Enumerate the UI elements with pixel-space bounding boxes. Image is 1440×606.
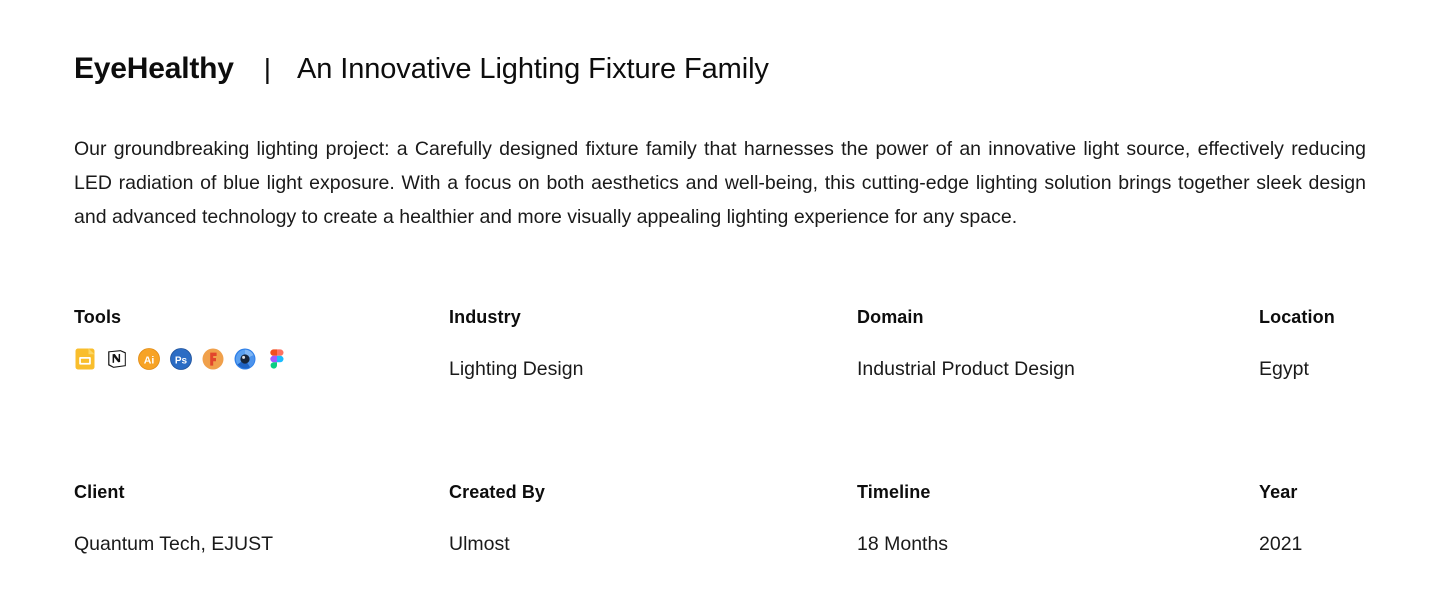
meta-row-first: Tools — [74, 306, 1374, 381]
meta-value-location: Egypt — [1259, 357, 1374, 381]
notion-icon[interactable] — [106, 348, 128, 370]
meta-value-timeline: 18 Months — [857, 532, 1259, 556]
brand-name: EyeHealthy — [74, 52, 234, 86]
keyshot-icon[interactable] — [234, 348, 256, 370]
meta-label-year: Year — [1259, 481, 1374, 503]
meta-label-tools: Tools — [74, 306, 449, 328]
page-title: EyeHealthy | An Innovative Lighting Fixt… — [74, 52, 769, 86]
meta-row-second: Client Quantum Tech, EJUST Created By Ul… — [74, 481, 1374, 556]
project-info-page: EyeHealthy | An Innovative Lighting Fixt… — [0, 0, 1440, 606]
meta-value-industry: Lighting Design — [449, 357, 857, 381]
svg-text:Ai: Ai — [144, 354, 155, 366]
svg-text:Ps: Ps — [175, 355, 188, 366]
meta-cell-timeline: Timeline 18 Months — [857, 481, 1259, 556]
meta-label-location: Location — [1259, 306, 1374, 328]
meta-cell-created-by: Created By Ulmost — [449, 481, 857, 556]
project-subtitle: An Innovative Lighting Fixture Family — [297, 53, 769, 86]
meta-label-timeline: Timeline — [857, 481, 1259, 503]
meta-value-client: Quantum Tech, EJUST — [74, 532, 449, 556]
adobe-photoshop-icon[interactable]: Ps — [170, 348, 192, 370]
meta-cell-domain: Domain Industrial Product Design — [857, 306, 1259, 381]
meta-cell-year: Year 2021 — [1259, 481, 1374, 556]
meta-cell-tools: Tools — [74, 306, 449, 381]
meta-cell-industry: Industry Lighting Design — [449, 306, 857, 381]
project-description: Our groundbreaking lighting project: a C… — [74, 132, 1366, 234]
meta-label-industry: Industry — [449, 306, 857, 328]
adobe-illustrator-icon[interactable]: Ai — [138, 348, 160, 370]
autodesk-fusion-icon[interactable] — [202, 348, 224, 370]
meta-cell-client: Client Quantum Tech, EJUST — [74, 481, 449, 556]
meta-label-created-by: Created By — [449, 481, 857, 503]
title-separator: | — [264, 53, 271, 85]
tools-icon-strip: Ai Ps — [74, 347, 449, 371]
meta-value-created-by: Ulmost — [449, 532, 857, 556]
project-meta-grid: Tools — [74, 306, 1374, 556]
figma-icon[interactable] — [266, 348, 288, 370]
meta-value-domain: Industrial Product Design — [857, 357, 1259, 381]
meta-label-domain: Domain — [857, 306, 1259, 328]
meta-cell-location: Location Egypt — [1259, 306, 1374, 381]
meta-label-client: Client — [74, 481, 449, 503]
meta-value-year: 2021 — [1259, 532, 1374, 556]
google-slides-icon[interactable] — [74, 348, 96, 370]
